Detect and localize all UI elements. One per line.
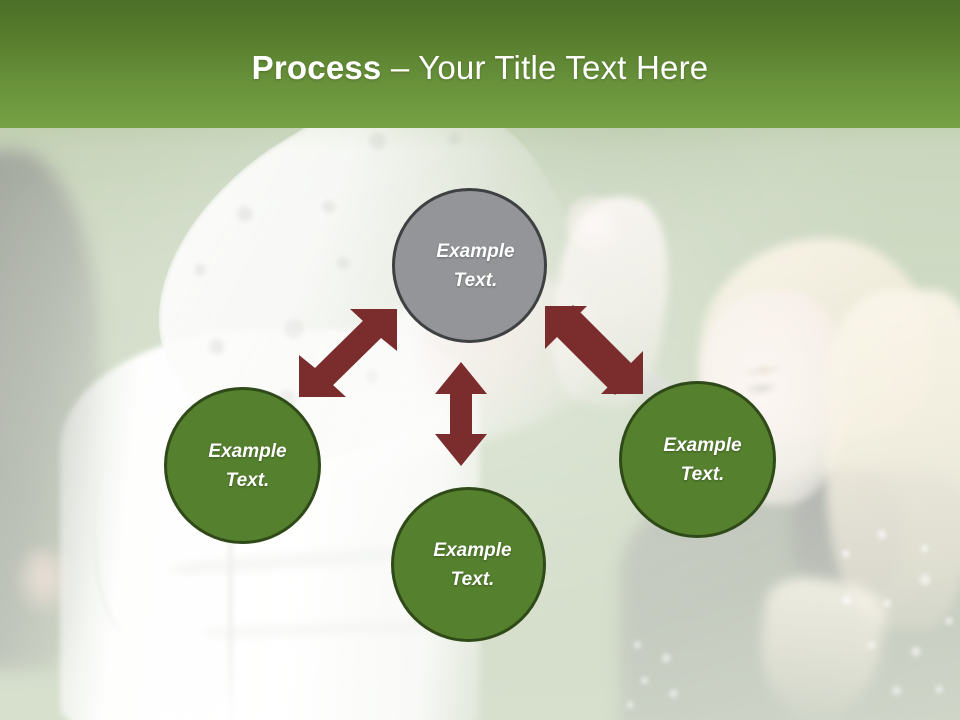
slide-canvas: Process – Your Title Text Here Example [0, 0, 960, 720]
process-node-right-line2: Text. [671, 460, 725, 489]
process-node-right-line1: Example [653, 431, 741, 460]
connector-top-left-arrow[interactable] [296, 306, 400, 400]
process-node-top-line1: Example [424, 237, 514, 266]
process-node-left-line1: Example [198, 437, 286, 466]
process-node-left[interactable]: Example Text. [164, 387, 321, 544]
process-node-bottom[interactable]: Example Text. [391, 487, 546, 642]
process-node-right[interactable]: Example Text. [619, 381, 776, 538]
process-node-top-line2: Text. [442, 266, 498, 295]
process-node-left-line2: Text. [216, 466, 270, 495]
process-diagram: Example Text. Example Text. Example Text… [0, 0, 960, 720]
process-node-top[interactable]: Example Text. [392, 188, 547, 343]
connector-top-bottom-arrow[interactable] [430, 360, 492, 468]
connector-top-right-arrow[interactable] [542, 303, 646, 397]
process-node-bottom-line2: Text. [443, 565, 495, 594]
process-node-bottom-line1: Example [425, 536, 511, 565]
